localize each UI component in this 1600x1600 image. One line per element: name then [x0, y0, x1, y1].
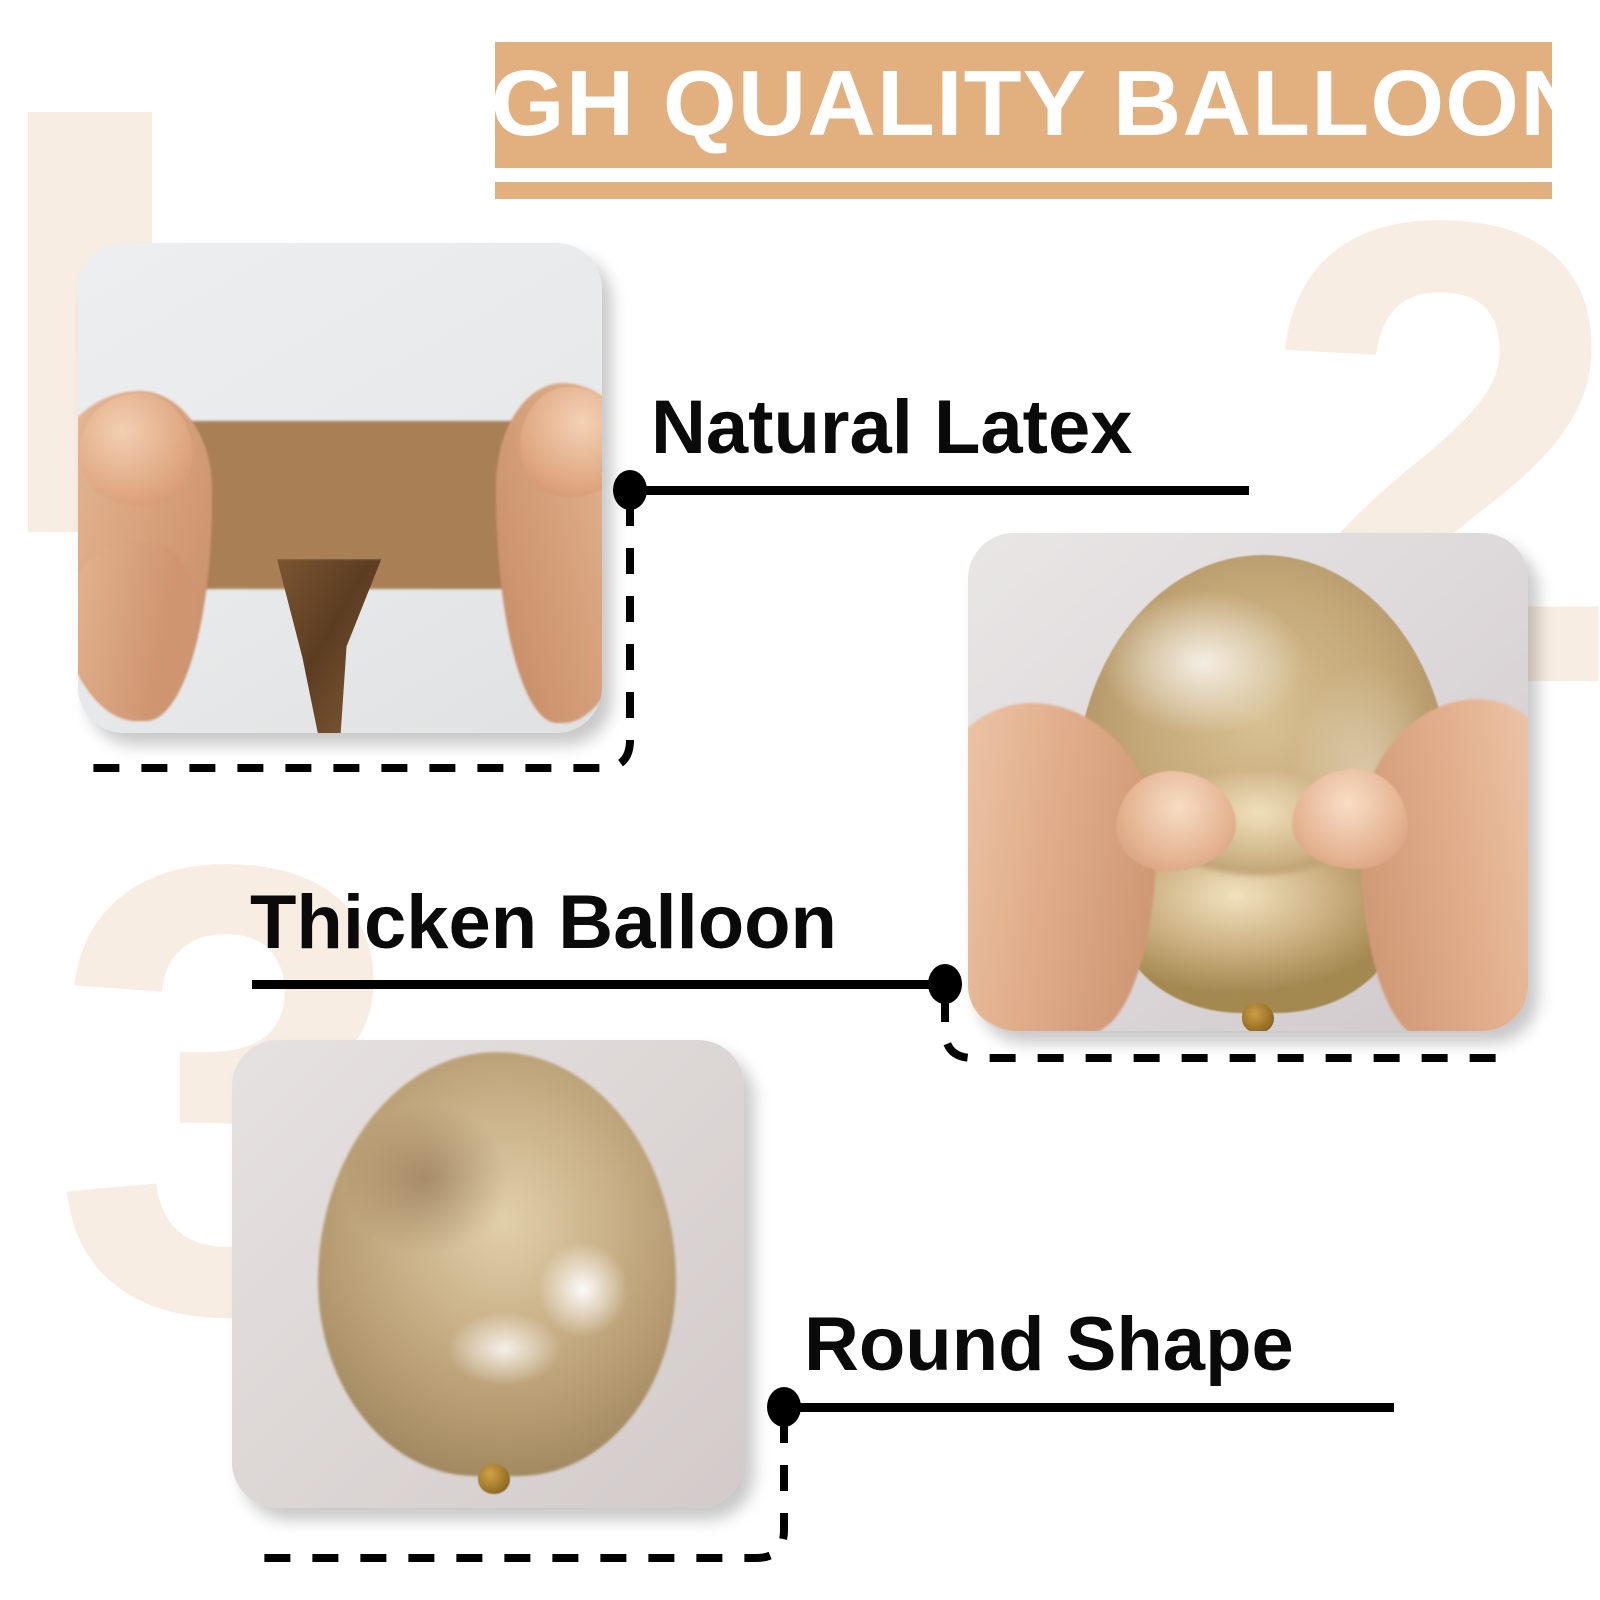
photo-3-content — [232, 1040, 744, 1508]
callout-label-natural-latex: Natural Latex — [651, 390, 1133, 466]
banner-underbar — [495, 182, 1552, 199]
feature-photo-natural-latex — [78, 243, 602, 733]
feature-photo-round-shape — [232, 1040, 744, 1508]
callout-rule-2 — [252, 980, 944, 989]
header-banner: HIGH QUALITY BALLOONS — [495, 42, 1552, 168]
left-thumb — [80, 393, 192, 505]
photo-2-content — [968, 533, 1528, 1031]
callout-dot-2 — [928, 964, 962, 1004]
photo-1-content — [78, 243, 602, 733]
banner-title: HIGH QUALITY BALLOONS — [495, 57, 1552, 154]
callout-dot-1 — [613, 470, 647, 510]
callout-label-round-shape: Round Shape — [804, 1307, 1294, 1383]
balloon-knot — [1242, 1003, 1274, 1031]
callout-dot-3 — [767, 1387, 801, 1427]
callout-label-thicken-balloon: Thicken Balloon — [250, 885, 837, 961]
callout-rule-1 — [632, 486, 1249, 495]
feature-photo-thicken-balloon — [968, 533, 1528, 1031]
callout-rule-3 — [786, 1403, 1394, 1412]
balloon-knot — [478, 1464, 510, 1494]
infographic-canvas: 2 3 HIGH QUALITY BALLOONS — [0, 0, 1600, 1600]
